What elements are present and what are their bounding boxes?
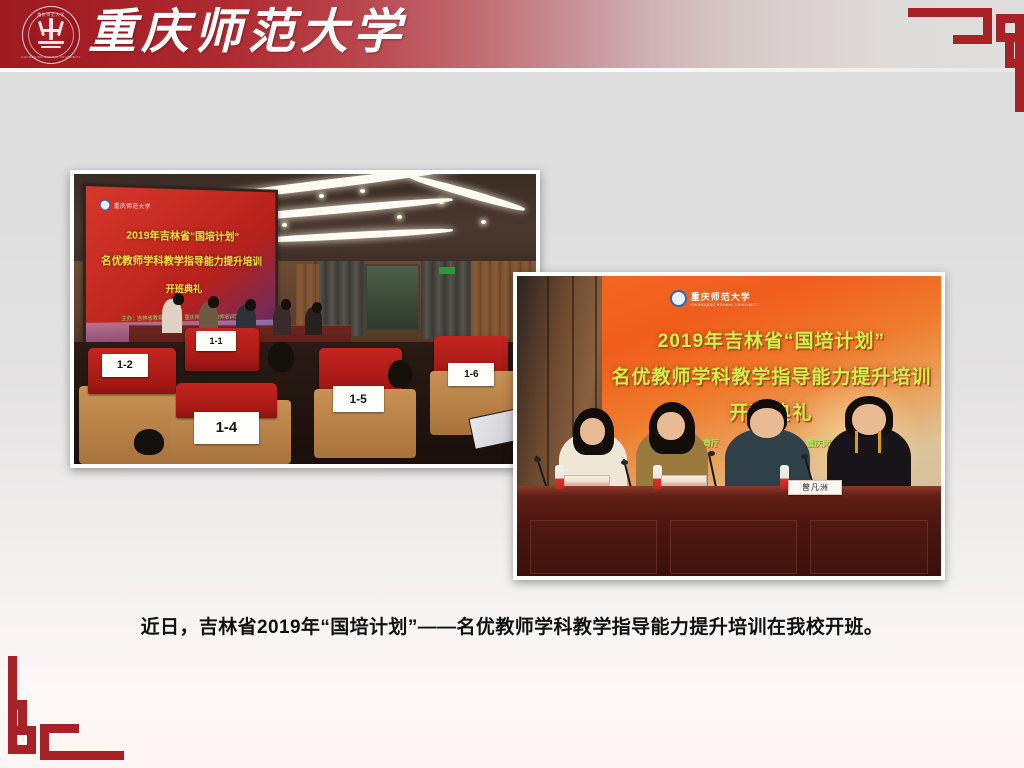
slide-caption: 近日，吉林省2019年“国培计划”——名优教师学科教学指导能力提升培训在我校开班… [0,612,1024,639]
seat-number-card: 1-6 [448,363,494,386]
seat-number-card: 1-2 [102,354,148,377]
university-seal-icon: 重庆师范大学 CHONGQING NORMAL UNIVERSITY [22,6,80,64]
screen-title-line2: 名优教师学科教学指导能力提升培训 [86,252,275,269]
screen-logo: 重庆师范大学 [100,199,151,211]
banner-title-line2: 名优教师学科教学指导能力提升培训 [602,362,941,389]
seat-number-card: 1-5 [333,386,384,412]
hall-window [365,264,420,331]
corner-ornament-top-right-icon [908,8,1024,112]
banner-logo-icon [670,290,687,307]
banner-logo-subtitle: CHONGQING NORMAL UNIVERSITY [691,303,760,307]
lanyard [855,431,880,453]
seal-flame-glyph [36,18,66,50]
seat-number-card: 1-4 [194,412,259,444]
name-plate: 曾凡洲 [788,480,842,495]
head-table [517,486,941,576]
seal-bottom-text: CHONGQING NORMAL UNIVERSITY [21,55,80,59]
screen-logo-text: 重庆师范大学 [114,200,151,210]
banner-title-line1: 2019年吉林省“国培计划” [602,326,941,353]
corner-ornament-bottom-left-icon [8,656,124,760]
university-name-title: 重庆师范大学 [88,2,406,64]
photo-auditorium-wide: 重庆师范大学 2019年吉林省“国培计划” 名优教师学科教学指导能力提升培训 开… [70,170,540,468]
banner-logo-title: 重庆师范大学 [691,290,760,303]
table-edge [517,486,941,494]
document-folder [564,475,610,486]
document-folder [661,475,707,486]
exit-sign-icon [439,267,455,274]
header-divider [0,68,1024,72]
screen-title-line1: 2019年吉林省“国培计划” [86,225,275,243]
seat-number-card: 1-1 [196,331,235,351]
banner-university-logo: 重庆师范大学 CHONGQING NORMAL UNIVERSITY [670,290,760,307]
photo-head-table: 重庆师范大学 CHONGQING NORMAL UNIVERSITY 2019年… [513,272,945,580]
slide-canvas: 重庆师范大学 CHONGQING NORMAL UNIVERSITY 重庆师范大… [0,0,1024,768]
screen-logo-icon [100,199,111,210]
